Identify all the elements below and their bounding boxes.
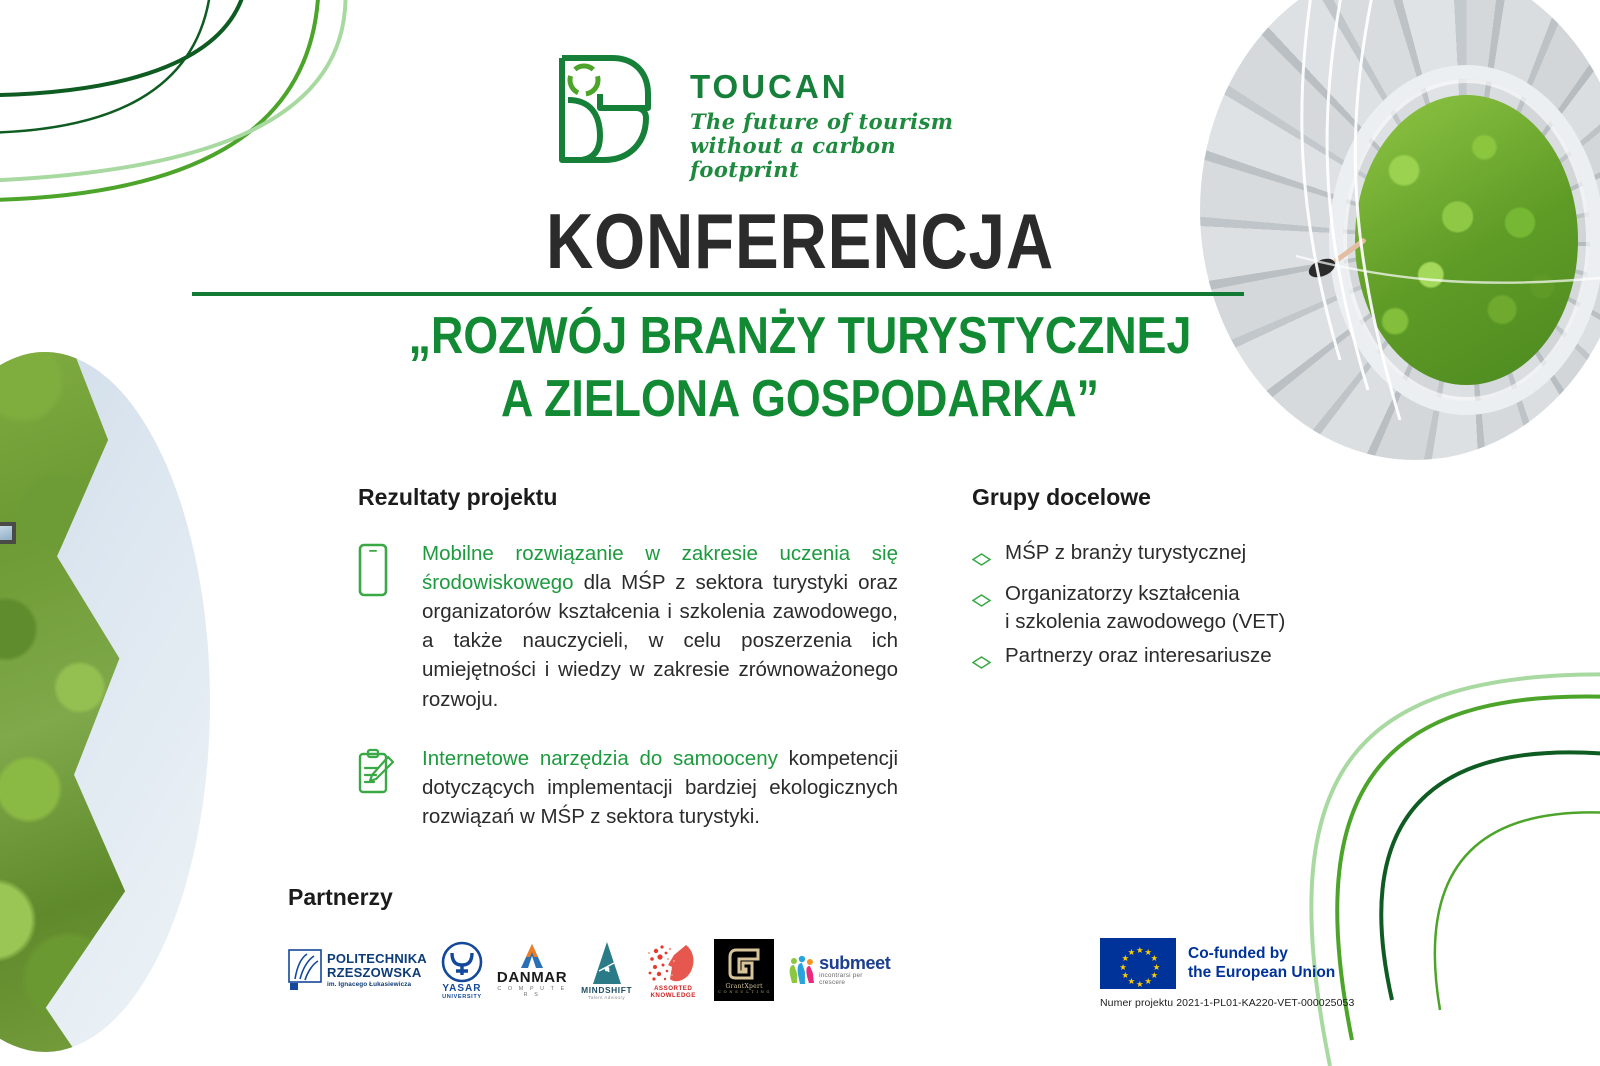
partner-name-line1: DANMAR (497, 969, 567, 986)
logo-tagline-line2: without a carbon footprint (690, 134, 960, 182)
partner-name-line2: incontrarsi per crescere (819, 972, 890, 986)
partner-logos-row: POLITECHNIKA RZESZOWSKA im. Ignacego Łuk… (288, 932, 888, 1008)
project-number: Numer projektu 2021-1-PL01-KA220-VET-000… (1100, 997, 1400, 1009)
diamond-bullet-icon (972, 546, 991, 573)
submeet-logo: submeet incontrarsi per crescere (788, 934, 890, 1006)
title-divider (192, 292, 1244, 296)
partner-name-line2: UNIVERSITY (442, 994, 482, 1000)
partner-name-line1: GrantXpert (718, 983, 770, 990)
eu-funding-line1: Co-funded by (1188, 945, 1335, 963)
list-item: MŚP z branży turystycznej (972, 539, 1302, 573)
target-groups-section: Grupy docelowe MŚP z branży turystycznej… (972, 484, 1302, 684)
eu-funding-label: Co-funded by the European Union (1188, 945, 1335, 982)
logo-wordmark: TOUCAN (690, 68, 849, 106)
list-item-label-2: i szkolenia zawodowego (VET) (1005, 610, 1285, 633)
logo-tagline-line1: The future of tourism (690, 110, 960, 134)
clipboard-pencil-icon (358, 744, 400, 831)
partner-name-line2: C O N S U L T I N G (718, 990, 770, 994)
toucan-logo: TOUCAN The future of tourism without a c… (548, 50, 968, 180)
list-item: Partnerzy oraz interesariusze (972, 642, 1302, 676)
mindshift-logo: MINDSHIFT Talent Advisory (581, 934, 632, 1006)
politechnika-rzeszowska-logo: POLITECHNIKA RZESZOWSKA im. Ignacego Łuk… (288, 934, 427, 1006)
partner-name-line2: C O M P U T E R S (497, 986, 567, 998)
list-item-label: Organizatorzy kształcenia (1005, 582, 1240, 605)
diamond-bullet-icon (972, 649, 991, 676)
yasar-university-logo: YASAR UNIVERSITY (441, 934, 483, 1006)
page-title-line2: A ZIELONA GOSPODARKA” (112, 368, 1488, 431)
partner-name-line2: Talent Advisory (581, 995, 632, 1000)
eu-funding-line2: the European Union (1188, 964, 1335, 982)
green-living-wall-building-photo (0, 352, 210, 1052)
partner-name-line1: ASSORTED KNOWLEDGE (646, 985, 700, 999)
partner-name-line1: YASAR (442, 983, 482, 994)
eu-funding-block: ★ ★ ★ ★ ★ ★ ★ ★ ★ ★ ★ ★ Co-funded by the… (1100, 938, 1400, 1009)
danmar-computers-logo: DANMAR C O M P U T E R S (497, 934, 567, 1006)
result-item: Internetowe narzędzia do samooceny kompe… (358, 744, 898, 831)
partner-name-line2: RZESZOWSKA (327, 966, 427, 981)
result-item-text: Mobilne rozwiązanie w zakresie uczenia s… (422, 539, 898, 714)
recycle-arrows-icon (570, 66, 598, 94)
partner-name-line1: MINDSHIFT (581, 985, 632, 995)
toucan-bird-icon (548, 50, 684, 168)
partners-heading: Partnerzy (288, 884, 393, 911)
partner-name-line1: submeet (819, 954, 890, 972)
conference-poster: TOUCAN The future of tourism without a c… (0, 0, 1600, 1066)
european-union-flag: ★ ★ ★ ★ ★ ★ ★ ★ ★ ★ ★ ★ (1100, 938, 1176, 989)
grant-xpert-consulting-logo: GrantXpert C O N S U L T I N G (714, 934, 774, 1006)
results-section: Rezultaty projektu Mobilne rozwiązanie w… (358, 484, 898, 861)
result-item-highlight: Internetowe narzędzia do samooceny (422, 747, 778, 770)
mobile-phone-icon (358, 539, 400, 714)
target-groups-list: MŚP z branży turystycznej Organizatorzy … (972, 539, 1302, 677)
logo-tagline: The future of tourism without a carbon f… (690, 110, 960, 182)
result-item: Mobilne rozwiązanie w zakresie uczenia s… (358, 539, 898, 714)
results-heading: Rezultaty projektu (358, 484, 898, 511)
page-title-kicker: KONFERENCJA (128, 196, 1472, 287)
assorted-knowledge-logo: ASSORTED KNOWLEDGE (646, 934, 700, 1006)
partner-name-line3: im. Ignacego Łukasiewicza (327, 981, 427, 988)
page-title: „ROZWÓJ BRANŻY TURYSTYCZNEJ A ZIELONA GO… (112, 305, 1488, 432)
list-item: Organizatorzy kształcenia i szkolenia za… (972, 580, 1302, 635)
list-item-label: MŚP z branży turystycznej (1005, 539, 1246, 566)
page-title-line1: „ROZWÓJ BRANŻY TURYSTYCZNEJ (112, 305, 1488, 368)
result-item-text: Internetowe narzędzia do samooceny kompe… (422, 744, 898, 831)
partner-name-line1: POLITECHNIKA (327, 952, 427, 967)
diamond-bullet-icon (972, 587, 991, 614)
target-groups-heading: Grupy docelowe (972, 484, 1302, 511)
list-item-label-group: Organizatorzy kształcenia i szkolenia za… (1005, 580, 1285, 635)
list-item-label: Partnerzy oraz interesariusze (1005, 642, 1272, 669)
